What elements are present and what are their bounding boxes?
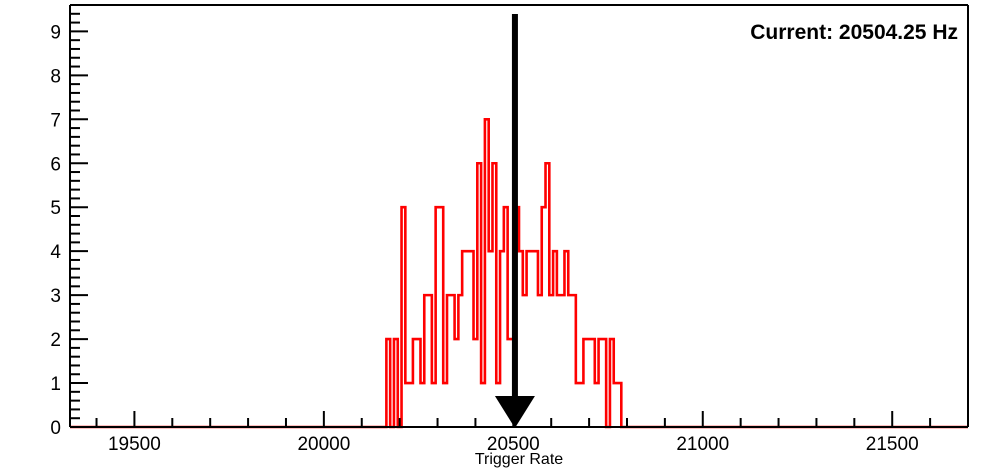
current-rate-title: Current: 20504.25 Hz bbox=[750, 21, 958, 44]
y-tick-label: 6 bbox=[50, 154, 61, 175]
chart-canvas: 0123456789 1950020000205002100021500 Cur… bbox=[0, 0, 996, 472]
histogram-plot: 0123456789 1950020000205002100021500 Cur… bbox=[0, 0, 996, 472]
y-tick-label: 1 bbox=[50, 374, 61, 395]
y-tick-label: 3 bbox=[50, 286, 61, 307]
y-tick-label: 8 bbox=[50, 66, 61, 87]
y-tick-label: 7 bbox=[50, 110, 61, 131]
x-tick-label: 21000 bbox=[676, 434, 729, 455]
x-tick-label: 21500 bbox=[866, 434, 919, 455]
y-tick-label: 5 bbox=[50, 198, 61, 219]
x-tick-label: 19500 bbox=[108, 434, 161, 455]
y-tick-label: 4 bbox=[50, 242, 61, 263]
x-tick-label: 20000 bbox=[297, 434, 350, 455]
x-axis-title: Trigger Rate bbox=[475, 451, 563, 468]
y-tick-label: 0 bbox=[50, 418, 61, 439]
y-tick-label: 9 bbox=[50, 22, 61, 43]
plot-background bbox=[0, 0, 996, 472]
y-tick-label: 2 bbox=[50, 330, 61, 351]
